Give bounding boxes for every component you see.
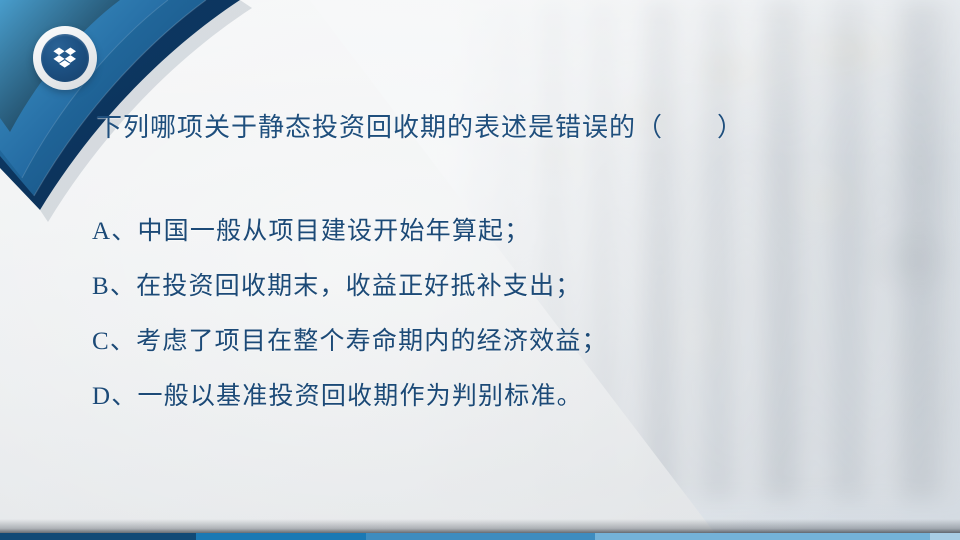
segment-pale	[930, 533, 960, 540]
bottom-bar-shadow	[0, 519, 960, 533]
segment-steel	[366, 533, 595, 540]
option-b[interactable]: B、在投资回收期末，收益正好抵补支出；	[92, 259, 852, 314]
bottom-color-bar	[0, 533, 960, 540]
option-c[interactable]: C、考虑了项目在整个寿命期内的经济效益；	[92, 314, 852, 369]
dropbox-icon	[41, 34, 89, 82]
option-a[interactable]: A、中国一般从项目建设开始年算起；	[92, 204, 852, 259]
answer-options-list: A、中国一般从项目建设开始年算起； B、在投资回收期末，收益正好抵补支出； C、…	[92, 204, 852, 424]
option-d[interactable]: D、一般以基准投资回收期作为判别标准。	[92, 369, 852, 424]
segment-sky	[595, 533, 930, 540]
segment-blue	[196, 533, 366, 540]
slide-canvas: 下列哪项关于静态投资回收期的表述是错误的（ ） A、中国一般从项目建设开始年算起…	[0, 0, 960, 540]
question-title: 下列哪项关于静态投资回收期的表述是错误的（ ）	[96, 112, 744, 145]
dropbox-badge[interactable]	[33, 26, 97, 90]
segment-navy	[0, 533, 196, 540]
